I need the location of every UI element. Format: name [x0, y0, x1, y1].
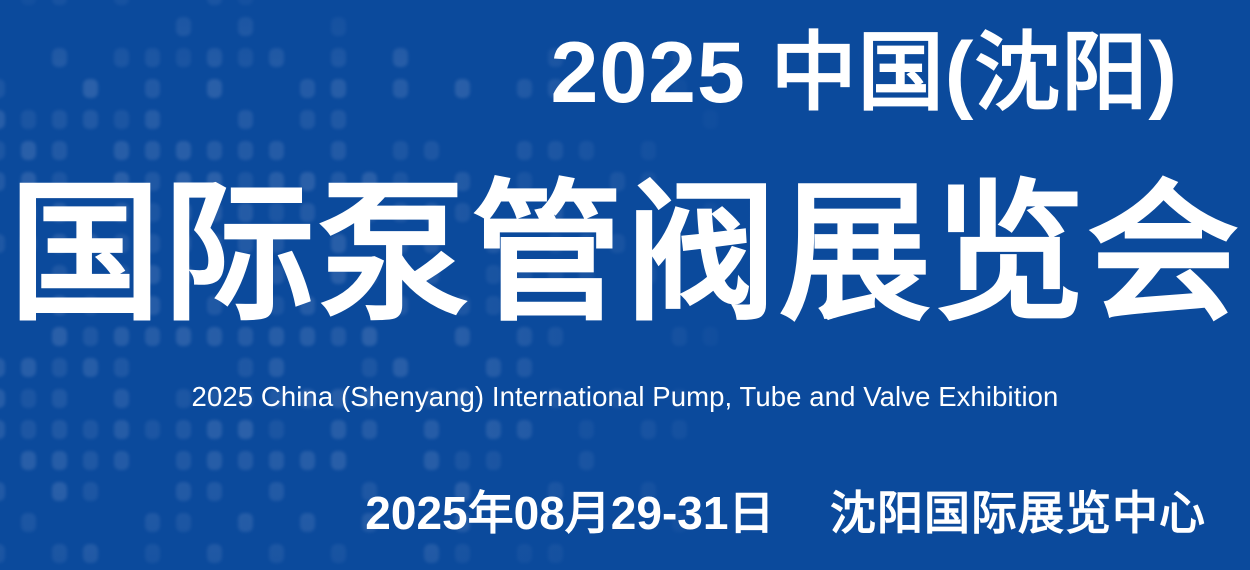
banner-date-venue: 2025年08月29-31日 沈阳国际展览中心	[0, 490, 1206, 536]
banner-title-main: 国际泵管阀展览会	[0, 178, 1250, 330]
exhibition-banner: 2025 中国(沈阳) 国际泵管阀展览会 2025 China (Shenyan…	[0, 0, 1250, 570]
banner-content: 2025 中国(沈阳) 国际泵管阀展览会 2025 China (Shenyan…	[0, 0, 1250, 570]
banner-date: 2025年08月29-31日	[365, 487, 774, 539]
banner-subtitle-english: 2025 China (Shenyang) International Pump…	[0, 383, 1250, 411]
banner-venue: 沈阳国际展览中心	[830, 487, 1206, 539]
banner-title-top: 2025 中国(沈阳)	[0, 30, 1178, 116]
